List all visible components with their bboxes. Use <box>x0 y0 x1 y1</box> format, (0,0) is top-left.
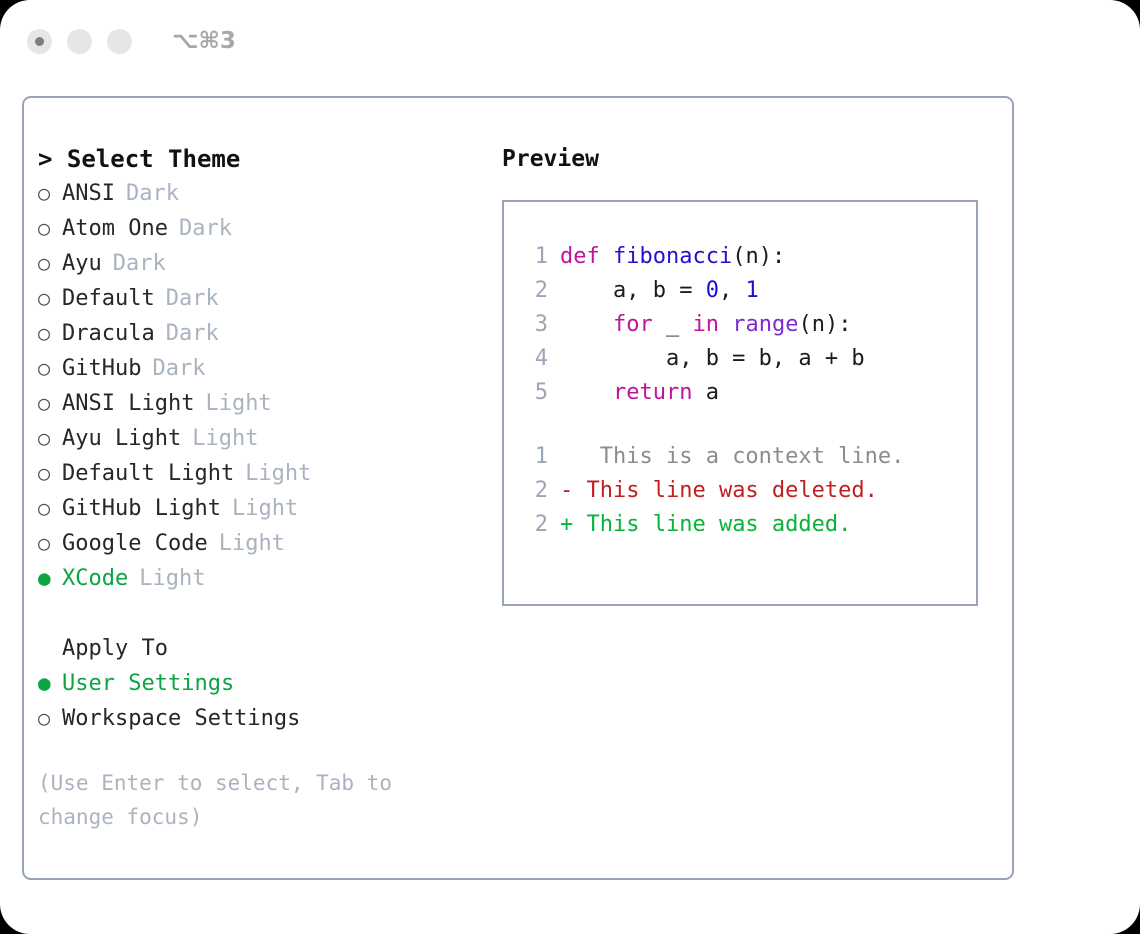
theme-option-default-light[interactable]: ○Default LightLight <box>38 456 488 491</box>
diff-marker: - <box>560 474 573 508</box>
theme-option-label: ANSI Light <box>62 387 194 421</box>
code-line-content: for _ in range(n): <box>560 308 851 342</box>
code-line-content: a, b = 0, 1 <box>560 274 759 308</box>
radio-selected-icon: ● <box>38 561 62 595</box>
code-line: 3 for _ in range(n): <box>516 308 976 342</box>
theme-option-label: Default <box>62 282 155 316</box>
theme-option-label: Ayu <box>62 247 102 281</box>
theme-variant-label: Dark <box>166 317 219 351</box>
code-token-pl: (n): <box>798 312 851 337</box>
line-number: 3 <box>516 308 548 342</box>
theme-variant-label: Dark <box>113 247 166 281</box>
radio-unselected-icon: ○ <box>38 316 62 350</box>
theme-picker-panel: > Select Theme ○ANSIDark○Atom OneDark○Ay… <box>22 96 1014 880</box>
line-number: 5 <box>516 376 548 410</box>
radio-unselected-icon: ○ <box>38 421 62 455</box>
theme-option-xcode[interactable]: ●XCodeLight <box>38 561 488 596</box>
theme-option-label: Google Code <box>62 527 208 561</box>
code-token-call: range <box>732 312 798 337</box>
code-line: 5 return a <box>516 376 976 410</box>
radio-unselected-icon: ○ <box>38 701 62 735</box>
code-token-kw: for <box>613 312 653 337</box>
code-token-pl: a <box>692 380 719 405</box>
code-token-num: 1 <box>745 278 758 303</box>
radio-unselected-icon: ○ <box>38 351 62 385</box>
theme-option-label: Default Light <box>62 457 234 491</box>
line-number: 4 <box>516 342 548 376</box>
preview-heading: Preview <box>502 142 992 176</box>
line-number: 1 <box>516 240 548 274</box>
line-number: 1 <box>516 440 548 474</box>
code-token-pl: , <box>719 278 746 303</box>
code-token-pl <box>560 380 613 405</box>
theme-variant-label: Light <box>205 387 271 421</box>
apply-to-heading: Apply To <box>62 632 488 666</box>
radio-selected-icon: ● <box>38 666 62 700</box>
apply-to-list: ●User Settings○Workspace Settings <box>38 666 488 736</box>
code-token-pl: a, b = <box>560 278 706 303</box>
theme-option-label: Dracula <box>62 317 155 351</box>
code-token-kw: in <box>692 312 719 337</box>
diff-text: This line was added. <box>573 508 851 542</box>
apply-option-user-settings[interactable]: ●User Settings <box>38 666 488 701</box>
radio-unselected-icon: ○ <box>38 211 62 245</box>
diff-line-ctx: 1 This is a context line. <box>516 440 976 474</box>
theme-option-ayu-light[interactable]: ○Ayu LightLight <box>38 421 488 456</box>
code-token-pl: a, b = b, a + b <box>560 346 865 371</box>
theme-option-default[interactable]: ○DefaultDark <box>38 281 488 316</box>
line-number: 2 <box>516 474 548 508</box>
theme-variant-label: Light <box>192 422 258 456</box>
code-line: 1def fibonacci(n): <box>516 240 976 274</box>
theme-option-dracula[interactable]: ○DraculaDark <box>38 316 488 351</box>
code-token-pl: (n): <box>732 244 785 269</box>
theme-variant-label: Dark <box>152 352 205 386</box>
theme-option-ayu[interactable]: ○AyuDark <box>38 246 488 281</box>
radio-unselected-icon: ○ <box>38 386 62 420</box>
theme-option-label: Ayu Light <box>62 422 181 456</box>
theme-variant-label: Dark <box>166 282 219 316</box>
diff-line-add: 2+ This line was added. <box>516 508 976 542</box>
radio-unselected-icon: ○ <box>38 526 62 560</box>
theme-option-label: GitHub Light <box>62 492 221 526</box>
theme-option-label: XCode <box>62 562 128 596</box>
theme-variant-label: Dark <box>126 177 179 211</box>
diff-text: This is a context line. <box>573 440 904 474</box>
apply-option-label: Workspace Settings <box>62 702 300 736</box>
window-dot-inner <box>35 37 44 46</box>
code-diff-spacer <box>516 410 976 440</box>
theme-variant-label: Light <box>219 527 285 561</box>
code-token-fn: fibonacci <box>613 244 732 269</box>
apply-option-label: User Settings <box>62 667 234 701</box>
code-line-content: return a <box>560 376 719 410</box>
code-sample: 1def fibonacci(n):2 a, b = 0, 13 for _ i… <box>516 240 976 410</box>
diff-sample: 1 This is a context line.2- This line wa… <box>516 440 976 542</box>
title-bar: ⌥⌘3 <box>0 0 1140 82</box>
window-controls <box>27 29 132 54</box>
diff-marker: + <box>560 508 573 542</box>
window-dot-third-icon[interactable] <box>107 29 132 54</box>
diff-marker <box>560 440 573 474</box>
theme-option-label: GitHub <box>62 352 141 386</box>
code-token-num: 0 <box>706 278 719 303</box>
radio-unselected-icon: ○ <box>38 456 62 490</box>
theme-option-ansi[interactable]: ○ANSIDark <box>38 176 488 211</box>
app-window: ⌥⌘3 > Select Theme ○ANSIDark○Atom OneDar… <box>0 0 1140 934</box>
code-token-kw: def <box>560 244 613 269</box>
theme-variant-label: Light <box>232 492 298 526</box>
theme-list-column: > Select Theme ○ANSIDark○Atom OneDark○Ay… <box>38 142 488 834</box>
theme-option-atom-one[interactable]: ○Atom OneDark <box>38 211 488 246</box>
theme-variant-label: Dark <box>179 212 232 246</box>
radio-unselected-icon: ○ <box>38 491 62 525</box>
code-token-pl <box>719 312 732 337</box>
radio-unselected-icon: ○ <box>38 246 62 280</box>
theme-list: ○ANSIDark○Atom OneDark○AyuDark○DefaultDa… <box>38 176 488 596</box>
radio-unselected-icon: ○ <box>38 281 62 315</box>
theme-variant-label: Light <box>139 562 205 596</box>
theme-option-google-code[interactable]: ○Google CodeLight <box>38 526 488 561</box>
theme-option-ansi-light[interactable]: ○ANSI LightLight <box>38 386 488 421</box>
theme-option-github-light[interactable]: ○GitHub LightLight <box>38 491 488 526</box>
code-line-content: a, b = b, a + b <box>560 342 865 376</box>
preview-column: Preview 1def fibonacci(n):2 a, b = 0, 13… <box>502 142 992 606</box>
code-token-pl <box>560 312 613 337</box>
theme-option-github[interactable]: ○GitHubDark <box>38 351 488 386</box>
theme-option-label: ANSI <box>62 177 115 211</box>
code-line-content: def fibonacci(n): <box>560 240 785 274</box>
code-token-pl: _ <box>653 312 693 337</box>
apply-option-workspace-settings[interactable]: ○Workspace Settings <box>38 701 488 736</box>
code-line: 4 a, b = b, a + b <box>516 342 976 376</box>
window-dot-active-icon[interactable] <box>27 29 52 54</box>
line-number: 2 <box>516 274 548 308</box>
line-number: 2 <box>516 508 548 542</box>
code-token-kw: return <box>613 380 692 405</box>
radio-unselected-icon: ○ <box>38 176 62 210</box>
diff-text: This line was deleted. <box>573 474 878 508</box>
code-line: 2 a, b = 0, 1 <box>516 274 976 308</box>
select-theme-heading: > Select Theme <box>38 142 488 176</box>
keyboard-hint-text: (Use Enter to select, Tab to change focu… <box>38 766 448 834</box>
theme-variant-label: Light <box>245 457 311 491</box>
preview-box: 1def fibonacci(n):2 a, b = 0, 13 for _ i… <box>502 200 978 606</box>
theme-option-label: Atom One <box>62 212 168 246</box>
diff-line-del: 2- This line was deleted. <box>516 474 976 508</box>
keyboard-shortcut-label: ⌥⌘3 <box>172 28 236 54</box>
window-dot-second-icon[interactable] <box>67 29 92 54</box>
